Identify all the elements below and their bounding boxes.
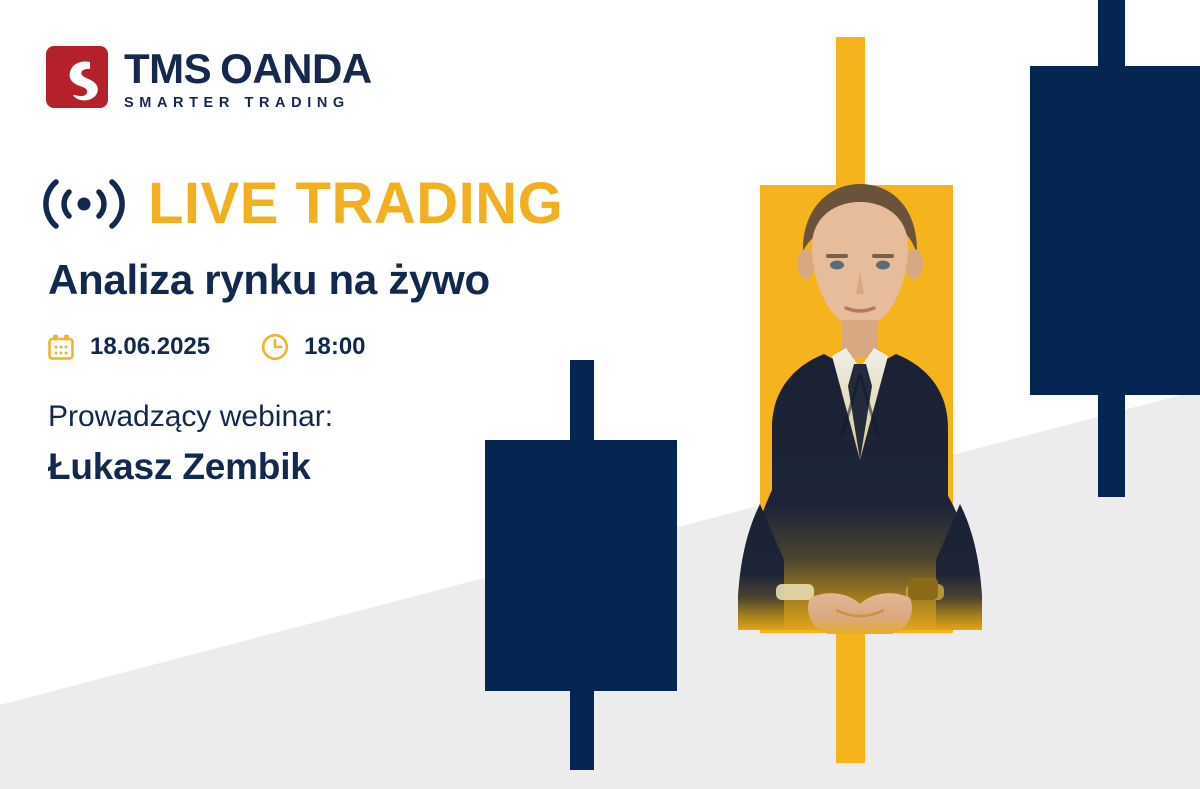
- brand-logo[interactable]: TMSOANDA SMARTER TRADING: [46, 46, 372, 111]
- presenter-name: Łukasz Zembik: [48, 446, 333, 488]
- brand-wordmark-tms: TMS: [124, 45, 211, 92]
- event-time: 18:00: [304, 333, 365, 361]
- webinar-promo-banner: TMSOANDA SMARTER TRADING LIVE TRADING An…: [0, 0, 1200, 789]
- presenter-photo: [660, 160, 1060, 660]
- presenter-block: Prowadzący webinar: Łukasz Zembik: [48, 400, 333, 488]
- calendar-icon: [46, 332, 76, 362]
- brand-tagline: SMARTER TRADING: [124, 95, 372, 111]
- presenter-intro: Prowadzący webinar:: [48, 400, 333, 434]
- headline-subtitle: Analiza rynku na żywo: [48, 256, 490, 304]
- content-column: TMSOANDA SMARTER TRADING LIVE TRADING An…: [0, 0, 680, 789]
- headline-title: LIVE TRADING: [148, 170, 563, 237]
- event-date: 18.06.2025: [90, 333, 210, 361]
- live-broadcast-icon: [42, 174, 126, 234]
- presenter-face: [812, 202, 908, 328]
- event-time-item: 18:00: [260, 332, 365, 362]
- tms-oanda-s-mark-icon: [46, 46, 108, 108]
- brand-wordmark-block: TMSOANDA SMARTER TRADING: [124, 46, 372, 111]
- event-meta-row: 18.06.2025 18:00: [46, 332, 366, 362]
- event-date-item: 18.06.2025: [46, 332, 210, 362]
- clock-icon: [260, 332, 290, 362]
- brand-wordmark-oanda: OANDA: [220, 45, 372, 92]
- headline-row: LIVE TRADING: [42, 170, 563, 237]
- brand-wordmark: TMSOANDA: [124, 48, 372, 91]
